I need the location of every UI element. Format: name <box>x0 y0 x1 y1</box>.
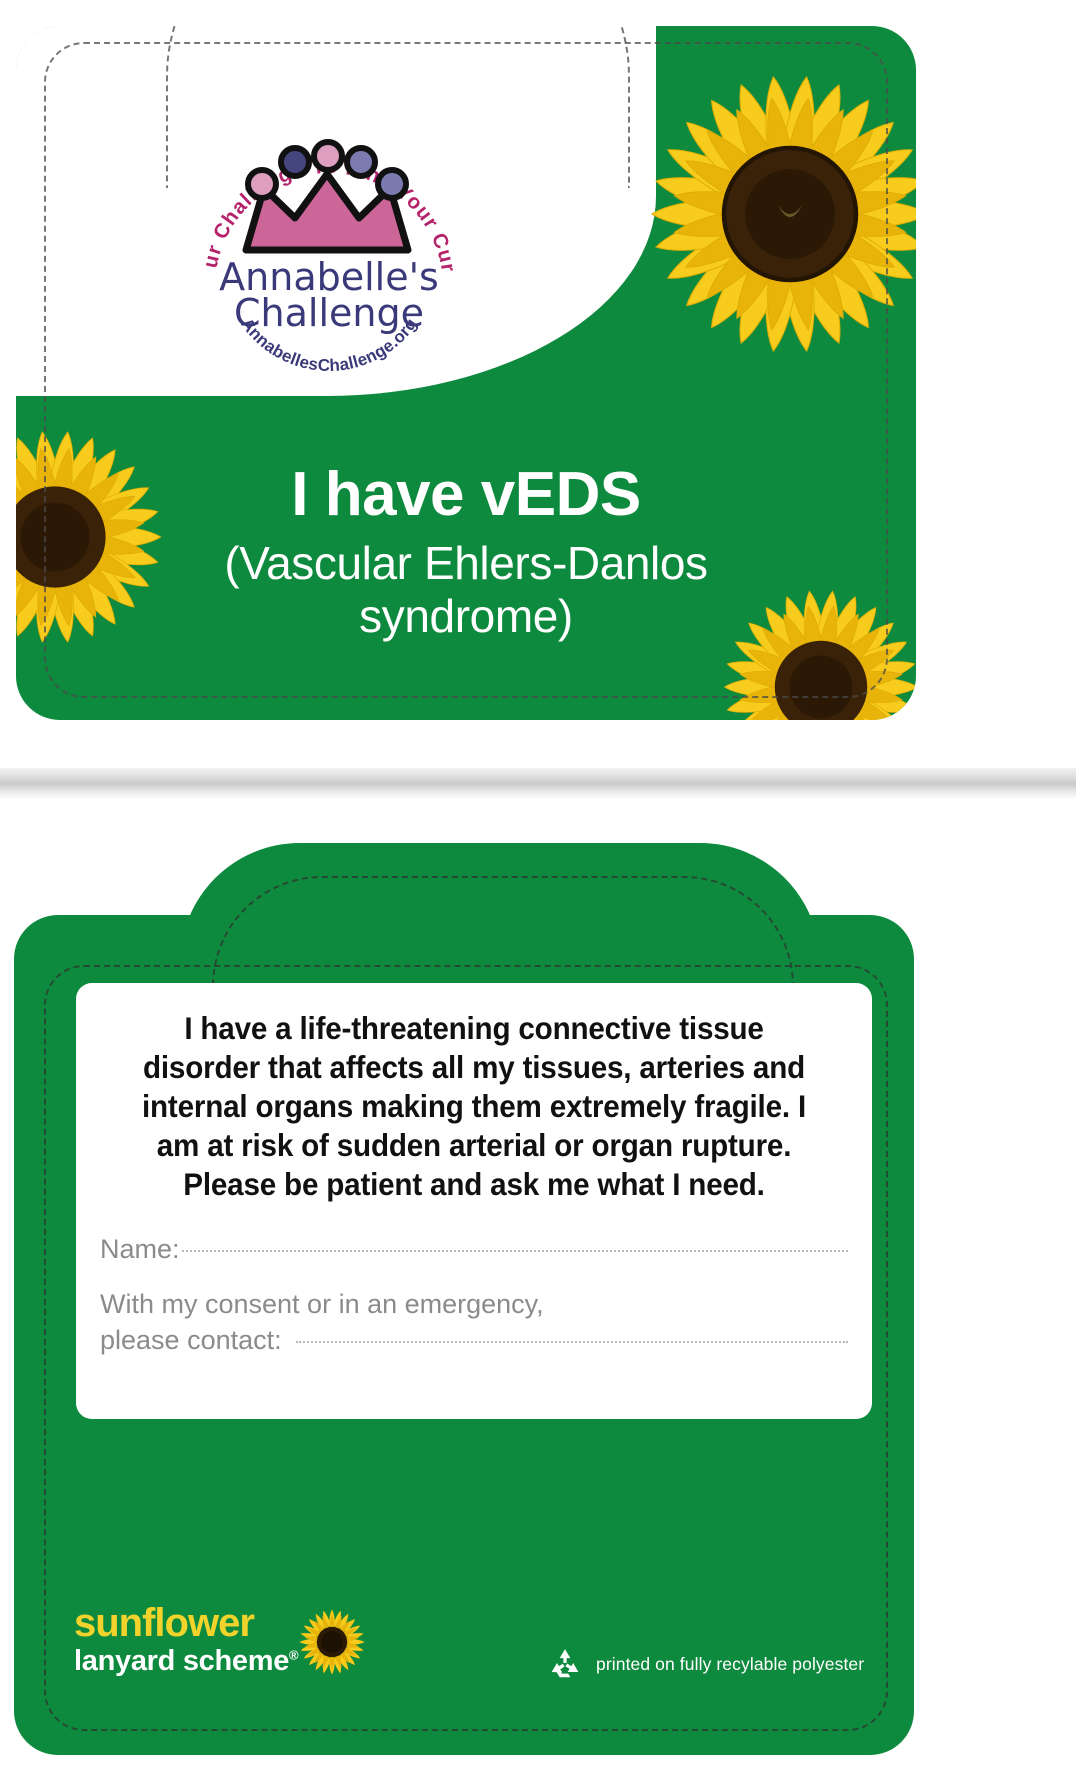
front-card: Our Challenge To Find Your Cure Annabell… <box>16 26 916 720</box>
annabelles-challenge-logo: Our Challenge To Find Your Cure Annabell… <box>194 122 464 372</box>
contact-input[interactable] <box>296 1341 848 1343</box>
name-input[interactable] <box>182 1250 848 1252</box>
crown-icon <box>246 142 408 250</box>
contact-field-row[interactable]: please contact: <box>100 1323 848 1359</box>
recycle-text: printed on fully recylable polyester <box>596 1654 864 1675</box>
front-subtitle-line1: (Vascular Ehlers-Danlos <box>16 537 916 590</box>
lanyard-cord-divider <box>0 768 1076 798</box>
recycle-note: printed on fully recylable polyester <box>548 1642 888 1686</box>
name-field-row[interactable]: Name: <box>100 1234 848 1265</box>
medical-statement: I have a life-threatening connective tis… <box>122 1009 825 1204</box>
front-subtitle-line2: syndrome) <box>16 590 916 643</box>
recycle-icon <box>548 1647 582 1681</box>
page-title: I have vEDS <box>16 462 916 527</box>
contact-label: please contact: <box>100 1323 282 1359</box>
name-label: Name: <box>100 1234 180 1265</box>
front-headline-block: I have vEDS (Vascular Ehlers-Danlos synd… <box>16 462 916 644</box>
lanyard-scheme-text: lanyard scheme <box>74 1645 289 1677</box>
info-panel: I have a life-threatening connective tis… <box>76 983 872 1419</box>
consent-block: With my consent or in an emergency, plea… <box>100 1287 848 1358</box>
sunflower-icon <box>296 1606 368 1678</box>
consent-line1: With my consent or in an emergency, <box>100 1287 848 1323</box>
front-subtitle: (Vascular Ehlers-Danlos syndrome) <box>16 537 916 644</box>
sunflower-lanyard-scheme-logo: sunflower lanyard scheme® <box>74 1604 404 1700</box>
logo-svg: Our Challenge To Find Your Cure Annabell… <box>194 122 464 372</box>
